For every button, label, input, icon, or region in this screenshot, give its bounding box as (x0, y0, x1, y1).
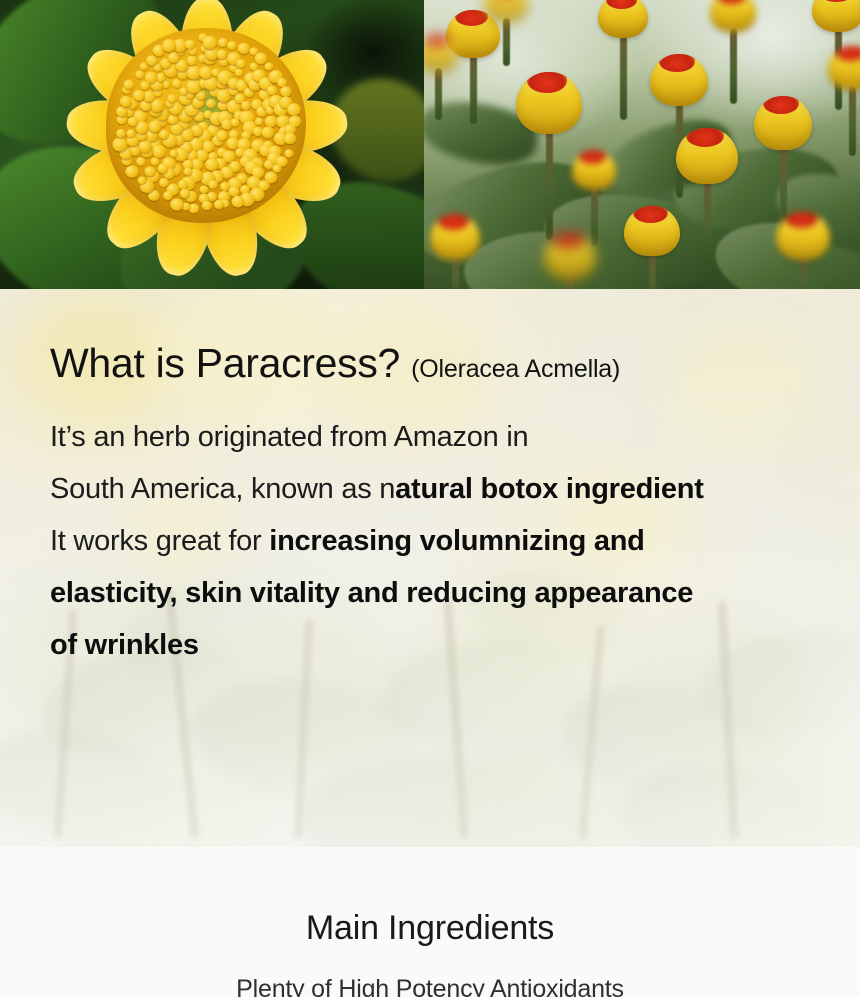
disc-floret (148, 120, 161, 132)
hero-section: What is Paracress? (Oleracea Acmella) It… (0, 289, 860, 847)
disc-floret (135, 70, 144, 79)
paracress-flower-bud (430, 214, 480, 260)
disc-floret (205, 159, 219, 171)
disc-floret (179, 189, 190, 199)
disc-floret (202, 201, 212, 211)
paracress-flower-bud (544, 232, 596, 280)
ingredients-subtitle: Plenty of High Potency Antioxidants (0, 975, 860, 997)
plant-stem (849, 86, 856, 156)
hero-description-line: of wrinkles (50, 619, 840, 671)
plant-stem (649, 252, 656, 289)
page-title-main: What is Paracress? (50, 340, 400, 386)
disc-floret (157, 163, 168, 173)
plant-stem (503, 18, 510, 66)
hero-text-regular: It’s an herb originated from Amazon in (50, 421, 528, 453)
disc-floret (159, 178, 169, 187)
disc-floret (285, 149, 294, 157)
paracress-flower-bud (572, 150, 616, 190)
paracress-flower-bud (624, 206, 680, 256)
disc-floret (172, 79, 182, 88)
disc-floret (284, 133, 296, 144)
disc-floret (203, 36, 218, 49)
plant-stem (452, 256, 459, 289)
disc-floret (127, 117, 138, 127)
disc-floret (199, 66, 213, 79)
disc-floret (287, 103, 301, 115)
disc-floret (227, 41, 237, 50)
hero-text-regular: It works great for (50, 525, 269, 557)
disc-floret (262, 126, 275, 138)
disc-floret (184, 167, 193, 175)
page-title-scientific-name: (Oleracea Acmella) (411, 355, 620, 383)
disc-floret (116, 106, 128, 117)
disc-floret (169, 149, 178, 157)
paracress-flower-bud (710, 0, 756, 32)
ingredients-heading: Main Ingredients (0, 909, 860, 948)
disc-floret (280, 86, 292, 97)
disc-floret (237, 43, 249, 54)
disc-floret (120, 96, 132, 107)
disc-floret (144, 166, 155, 176)
disc-floret (217, 130, 228, 140)
disc-floret (208, 180, 217, 189)
photo-strip (0, 0, 860, 289)
disc-floret (136, 157, 145, 166)
paracress-flower-bud (516, 72, 582, 134)
hero-text-emphasis: increasing volumnizing and (269, 525, 644, 557)
disc-floret (236, 59, 246, 68)
disc-floret (138, 176, 147, 184)
disc-floret (187, 56, 198, 66)
plant-stem (470, 54, 477, 124)
disc-floret (125, 165, 139, 177)
disc-floret (214, 200, 224, 209)
disc-floret (231, 118, 240, 126)
hero-content: What is Paracress? (Oleracea Acmella) It… (50, 341, 840, 671)
disc-floret (140, 81, 149, 90)
disc-floret (167, 94, 176, 103)
disc-floret (267, 85, 278, 95)
disc-floret (254, 117, 263, 125)
hero-description: It’s an herb originated from Amazon inSo… (50, 411, 840, 671)
hero-description-line: It works great for increasing volumnizin… (50, 515, 840, 567)
hero-text-emphasis: of wrinkles (50, 629, 199, 661)
hero-text-emphasis: atural botox ingredient (395, 473, 703, 505)
disc-floret (126, 129, 135, 137)
disc-floret (152, 145, 166, 158)
paracress-flower-bud (754, 96, 812, 150)
hero-text-emphasis: elasticity, skin vitality and reducing a… (50, 577, 693, 609)
disc-floret (264, 62, 273, 70)
disc-floret (199, 185, 208, 193)
paracress-flower-bud (776, 212, 830, 260)
hero-text-regular: South America, known as n (50, 473, 395, 505)
paracress-flower-bud (812, 0, 860, 32)
disc-floret (234, 68, 243, 76)
disc-floret (159, 129, 169, 139)
hero-description-line: elasticity, skin vitality and reducing a… (50, 567, 840, 619)
disc-floret (241, 100, 251, 109)
plant-stem (620, 34, 627, 120)
paracress-flower-bud (598, 0, 648, 38)
disc-floret (163, 191, 173, 200)
plant-stem (800, 256, 807, 289)
disc-floret (124, 80, 135, 90)
disc-florets (106, 28, 306, 223)
main-ingredients-section: Main Ingredients Plenty of High Potency … (0, 847, 860, 997)
plant-stem (591, 186, 598, 246)
product-infographic-page: What is Paracress? (Oleracea Acmella) It… (0, 0, 860, 997)
page-title: What is Paracress? (Oleracea Acmella) (50, 341, 840, 385)
hero-description-line: South America, known as natural botox in… (50, 463, 840, 515)
disc-floret (167, 114, 178, 124)
paracress-flower-bud (650, 54, 708, 106)
disc-floret (151, 157, 160, 165)
disc-floret (206, 99, 216, 108)
plant-stem (435, 68, 442, 120)
disc-floret (116, 129, 126, 138)
paracress-flower-macro-photo (0, 0, 424, 289)
plant-stem (704, 180, 711, 264)
hero-description-line: It’s an herb originated from Amazon in (50, 411, 840, 463)
paracress-flower-bud (676, 128, 738, 184)
paracress-field-photo (424, 0, 860, 289)
disc-floret (133, 90, 145, 101)
flower-disc (106, 28, 306, 223)
plant-stem (546, 130, 553, 240)
plant-stem (730, 28, 737, 104)
